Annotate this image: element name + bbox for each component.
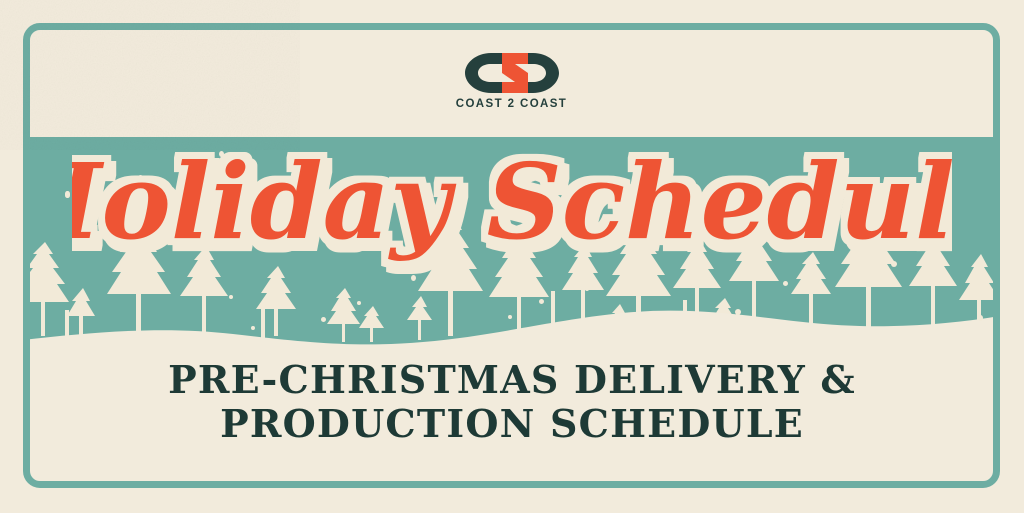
snow-speck <box>219 151 224 157</box>
snow-speck <box>411 275 416 281</box>
snow-speck <box>321 317 326 322</box>
logo-wordmark: COAST 2 COAST <box>456 99 568 111</box>
snow-speck <box>928 183 932 188</box>
snow-speck <box>138 175 143 180</box>
snow-speck <box>539 299 544 304</box>
snow-speck <box>631 255 636 260</box>
logo-panel: COAST 2 COAST <box>23 23 1000 137</box>
snow-speck <box>437 193 441 198</box>
c2c-logo-icon <box>462 50 562 96</box>
subtitle-line-2: PRODUCTION SCHEDULE <box>0 402 1024 446</box>
snow-speck <box>251 326 255 330</box>
snow-speck <box>78 163 82 168</box>
subtitle-line-1: PRE-CHRISTMAS DELIVERY & <box>0 358 1024 402</box>
snow-speck <box>978 315 983 321</box>
snow-speck <box>829 198 834 204</box>
snow-speck <box>783 281 788 286</box>
snow-speck <box>229 295 233 299</box>
snow-speck <box>65 191 70 198</box>
snow-speck <box>891 261 897 267</box>
snow-speck <box>585 287 589 291</box>
holiday-schedule-poster: COAST 2 COAST Holiday Schedule <box>0 0 1024 513</box>
snow-speck <box>197 238 201 242</box>
snow-speck <box>357 301 361 305</box>
snow-speck <box>508 315 512 319</box>
snow-speck <box>735 309 741 315</box>
snow-speck <box>663 178 667 183</box>
brand-logo: COAST 2 COAST <box>456 50 568 111</box>
logo-left-c <box>465 53 505 93</box>
subtitle-block: PRE-CHRISTMAS DELIVERY & PRODUCTION SCHE… <box>0 358 1024 447</box>
logo-two <box>502 53 528 93</box>
